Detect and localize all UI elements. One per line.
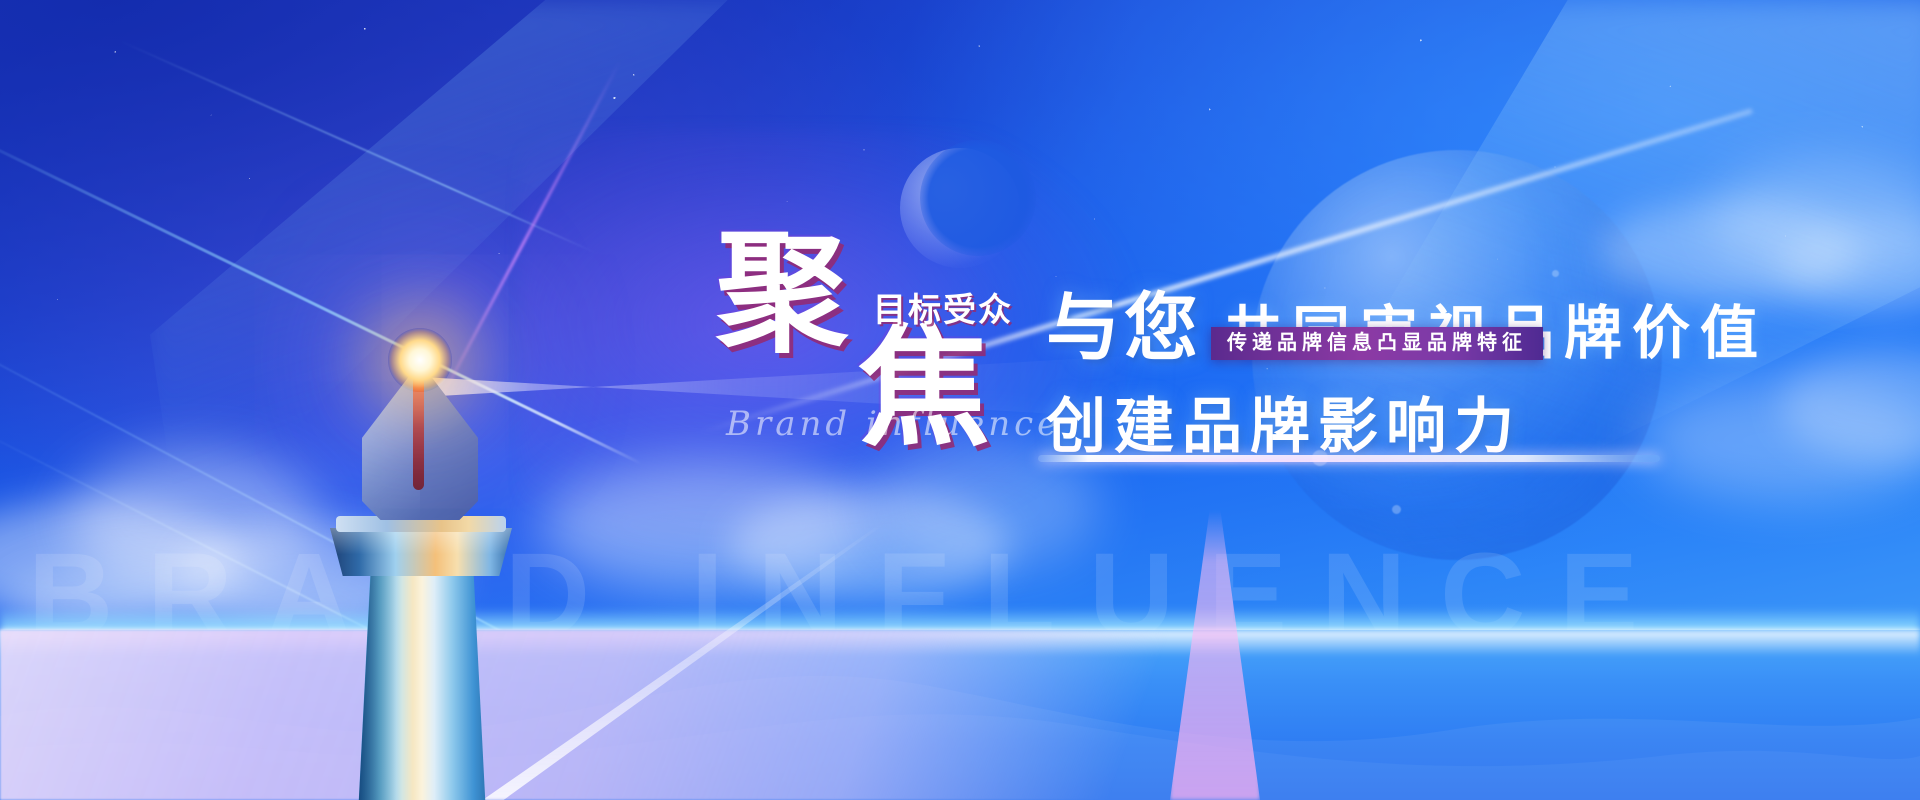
audience-tag: 目标受众 [873, 283, 1013, 331]
status-badge: 传递品牌信息凸显品牌特征 [1211, 327, 1543, 360]
focus-char-ju: 聚 [716, 228, 846, 360]
copy-block: 聚 焦 目标受众 Brand influence 与您 共同审视品牌价值 传递品… [0, 0, 1920, 800]
divider-rule [1038, 455, 1660, 462]
headline-lead: 与您 [1046, 268, 1202, 375]
headline-sub: 创建品牌影响力 [1046, 378, 1522, 465]
brand-influence-banner: BRAND INFLUENCE 聚 焦 目标受众 Brand influence… [0, 0, 1920, 800]
script-tagline: Brand influence [726, 404, 1061, 444]
